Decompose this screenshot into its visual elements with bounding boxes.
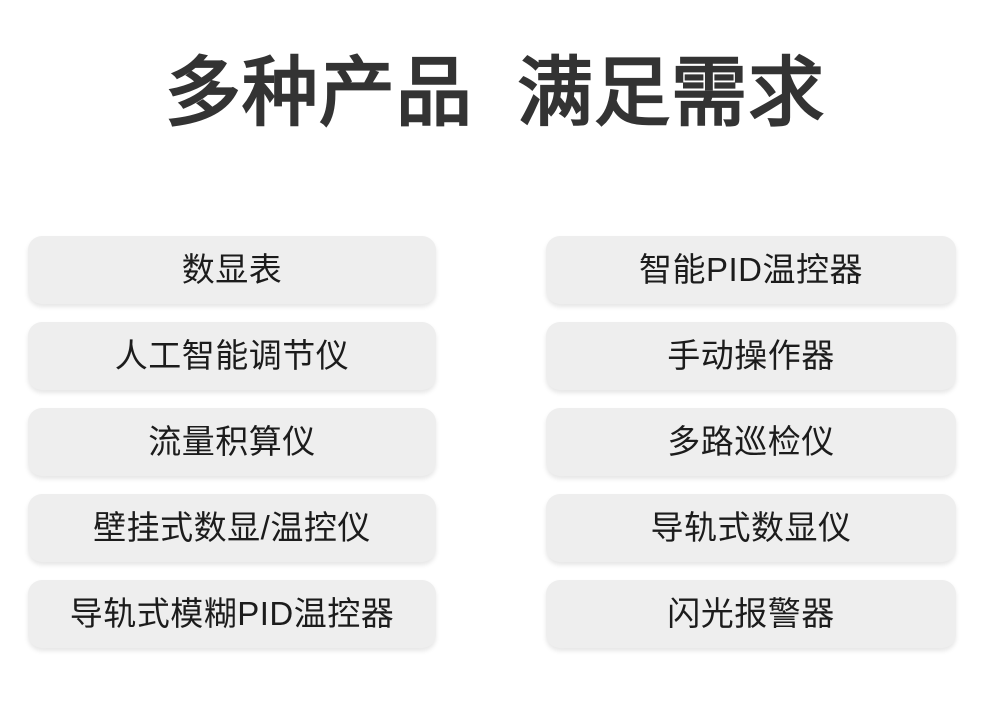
- product-pill-right-4[interactable]: 导轨式数显仪: [546, 494, 956, 562]
- product-pill-left-1[interactable]: 数显表: [28, 236, 436, 304]
- product-category-columns: 数显表 人工智能调节仪 流量积算仪 壁挂式数显/温控仪 导轨式模糊PID温控器 …: [28, 236, 956, 648]
- product-pill-right-3[interactable]: 多路巡检仪: [546, 408, 956, 476]
- product-pill-right-5[interactable]: 闪光报警器: [546, 580, 956, 648]
- product-pill-label: 人工智能调节仪: [115, 338, 350, 374]
- product-pill-right-1[interactable]: 智能PID温控器: [546, 236, 956, 304]
- product-pill-label: 多路巡检仪: [667, 424, 835, 460]
- product-pill-label: 壁挂式数显/温控仪: [93, 510, 371, 546]
- product-pill-label: 手动操作器: [667, 338, 835, 374]
- page-title: 多种产品 满足需求: [0, 46, 990, 142]
- product-column-right: 智能PID温控器 手动操作器 多路巡检仪 导轨式数显仪 闪光报警器: [546, 236, 956, 648]
- product-pill-left-2[interactable]: 人工智能调节仪: [28, 322, 436, 390]
- product-pill-label: 导轨式数显仪: [651, 510, 852, 546]
- product-pill-left-5[interactable]: 导轨式模糊PID温控器: [28, 580, 436, 648]
- product-column-left: 数显表 人工智能调节仪 流量积算仪 壁挂式数显/温控仪 导轨式模糊PID温控器: [28, 236, 436, 648]
- product-pill-label: 导轨式模糊PID温控器: [70, 596, 395, 632]
- product-pill-right-2[interactable]: 手动操作器: [546, 322, 956, 390]
- product-pill-left-4[interactable]: 壁挂式数显/温控仪: [28, 494, 436, 562]
- product-categories-banner: 多种产品 满足需求 数显表 人工智能调节仪 流量积算仪 壁挂式数显/温控仪 导轨…: [0, 0, 990, 706]
- product-pill-label: 流量积算仪: [148, 424, 316, 460]
- product-pill-label: 智能PID温控器: [639, 252, 863, 288]
- product-pill-left-3[interactable]: 流量积算仪: [28, 408, 436, 476]
- product-pill-label: 闪光报警器: [667, 596, 835, 632]
- product-pill-label: 数显表: [182, 252, 283, 288]
